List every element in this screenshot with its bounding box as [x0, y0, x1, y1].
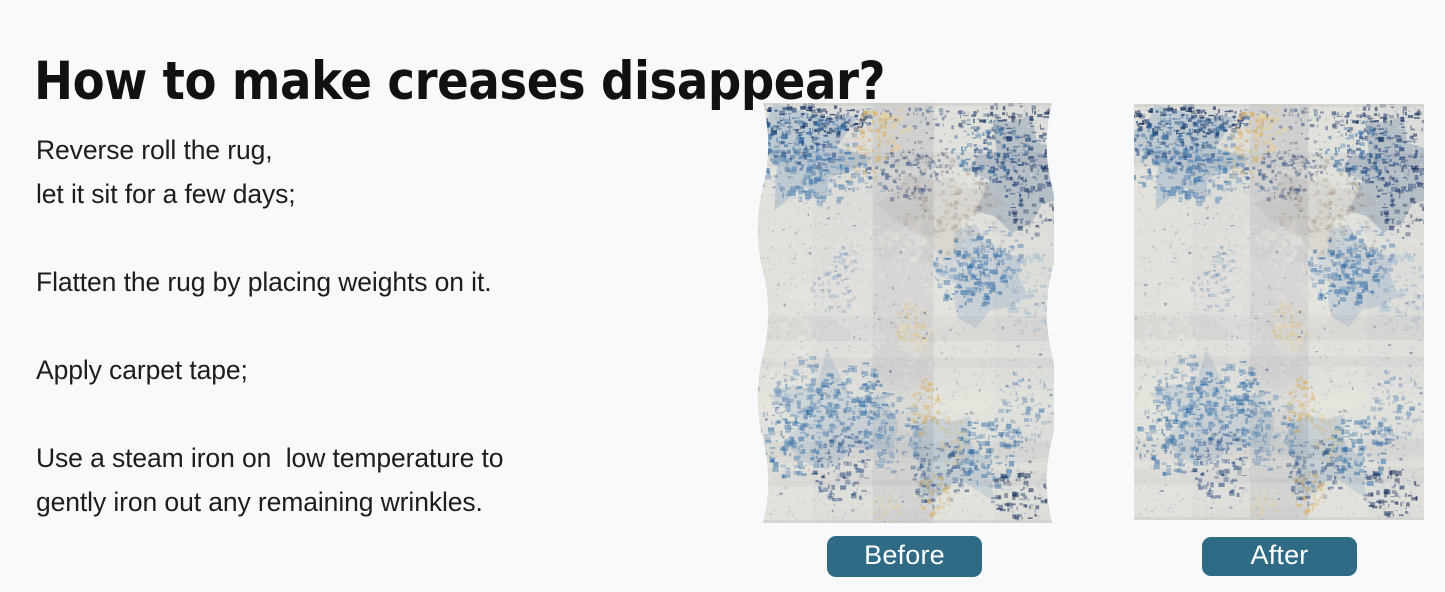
rug-figure-after [1134, 104, 1424, 520]
instruction-step: Apply carpet tape; [36, 348, 676, 392]
instruction-line: Use a steam iron on low temperature to [36, 436, 676, 480]
caption-badge-after: After [1202, 537, 1357, 576]
caption-badge-before: Before [827, 536, 982, 577]
instruction-line: Flatten the rug by placing weights on it… [36, 260, 676, 304]
rug-texture-flat [1134, 104, 1424, 520]
rug-image-before [752, 103, 1054, 523]
instruction-line: Reverse roll the rug, [36, 128, 676, 172]
instruction-step: Reverse roll the rug,let it sit for a fe… [36, 128, 676, 216]
creases-infographic: How to make creases disappear? Reverse r… [0, 0, 1445, 592]
page-title: How to make creases disappear? [34, 54, 791, 110]
instructions-list: Reverse roll the rug,let it sit for a fe… [36, 128, 676, 524]
instruction-line: Apply carpet tape; [36, 348, 676, 392]
rug-image-after [1134, 104, 1424, 520]
rug-figure-before [752, 103, 1054, 523]
instruction-line: let it sit for a few days; [36, 172, 676, 216]
instruction-step: Flatten the rug by placing weights on it… [36, 260, 676, 304]
rug-texture-wavy [752, 103, 1054, 523]
instruction-line: gently iron out any remaining wrinkles. [36, 480, 676, 524]
instruction-step: Use a steam iron on low temperature toge… [36, 436, 676, 524]
